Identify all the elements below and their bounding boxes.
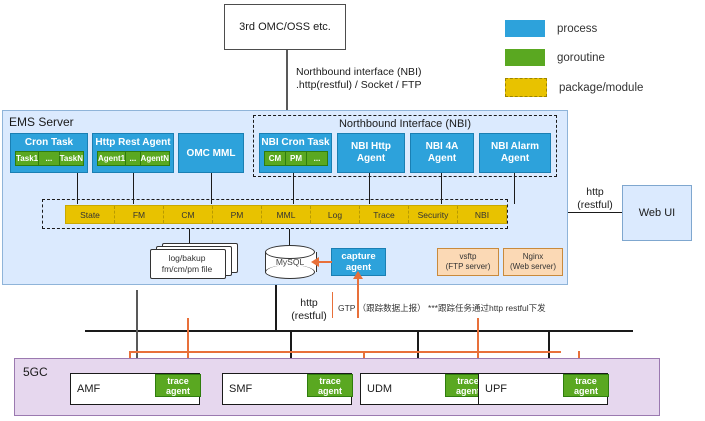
module-cm[interactable]: CM (164, 206, 213, 223)
legend-label-process: process (557, 23, 597, 35)
legend-item-package: package/module (505, 78, 643, 97)
fivegc-label: 5GC (23, 365, 48, 379)
ems-to-webui-connector (568, 212, 622, 213)
goroutine-cm: CM (264, 151, 286, 166)
capture-to-mysql-arrow-line (318, 261, 332, 263)
process-nbi-http-agent-label: NBI Http Agent (338, 141, 404, 165)
ems-5gc-link-line2: (restful) (285, 310, 333, 323)
trace-agent-smf-line2: agent (318, 386, 342, 396)
process-nbi-alarm-agent-label: NBI Alarm Agent (480, 141, 550, 165)
module-state[interactable]: State (66, 206, 115, 223)
module-mml[interactable]: MML (262, 206, 311, 223)
third-party-omc-oss-label: 3rd OMC/OSS etc. (239, 21, 331, 33)
ems-to-5gc-horizontal-bus (85, 330, 633, 332)
nf-upf-box[interactable]: UPF trace agent (478, 373, 608, 405)
nf-amf-box[interactable]: AMF trace agent (70, 373, 200, 405)
mysql-label: MySQL (265, 245, 315, 279)
omc-to-nbi-connector (286, 50, 288, 110)
goroutine-pm: PM (285, 151, 307, 166)
goroutine-row-cron-task: Task1 ... TaskN (15, 151, 83, 166)
process-nbi-4a-agent[interactable]: NBI 4A Agent (410, 133, 474, 173)
connector-nbi-alarm-to-modules (514, 173, 515, 204)
amf-upper-riser (136, 290, 138, 332)
process-omc-mml-label: OMC MML (179, 148, 243, 159)
module-trace[interactable]: Trace (360, 206, 409, 223)
process-cron-task[interactable]: Cron Task Task1 ... TaskN (10, 133, 88, 173)
ems-5gc-link-label: http (restful) (285, 297, 333, 323)
process-nbi-4a-agent-label: NBI 4A Agent (411, 141, 473, 165)
process-nbi-http-agent[interactable]: NBI Http Agent (337, 133, 405, 173)
trace-agent-amf-line1: trace (167, 376, 189, 386)
nf-smf-box[interactable]: SMF trace agent (222, 373, 352, 405)
gtp-orange-arrowhead-up (353, 271, 363, 279)
trace-agent-smf[interactable]: trace agent (307, 374, 353, 397)
legend-item-process: process (505, 20, 643, 37)
gtp-orange-horizontal-bus (129, 351, 561, 353)
gtp-note-separator (332, 292, 333, 318)
process-omc-mml[interactable]: OMC MML (178, 133, 244, 173)
trace-agent-upf[interactable]: trace agent (563, 374, 609, 397)
goroutine-nbi-ellipsis: ... (306, 151, 328, 166)
legend-label-goroutine: goroutine (557, 52, 605, 64)
web-ui-link-label: http (restful) (570, 186, 620, 212)
process-cron-task-label: Cron Task (11, 137, 87, 148)
process-http-rest-agent-label: Http Rest Agent (93, 137, 173, 148)
trace-agent-udm-line2: agent (456, 386, 480, 396)
nginx-line2: (Web server) (510, 262, 556, 272)
legend-swatch-goroutine (505, 49, 545, 66)
northbound-link-line2: .http(restful) / Socket / FTP (296, 79, 496, 92)
vsftp-server-box: vsftp (FTP server) (437, 248, 499, 276)
module-pm[interactable]: PM (213, 206, 262, 223)
legend-swatch-package (505, 78, 547, 97)
module-security[interactable]: Security (409, 206, 458, 223)
northbound-link-line1: Northbound interface (NBI) (296, 66, 496, 79)
goroutine-task1: Task1 (15, 151, 39, 166)
vsftp-line1: vsftp (460, 252, 477, 262)
trace-agent-amf-line2: agent (166, 386, 190, 396)
file-label-line2: fm/cm/pm file (150, 264, 224, 275)
process-nbi-cron-task[interactable]: NBI Cron Task CM PM ... (259, 133, 332, 173)
architecture-diagram: 3rd OMC/OSS etc. Northbound interface (N… (0, 0, 705, 421)
trace-agent-amf[interactable]: trace agent (155, 374, 201, 397)
web-ui-link-line1: http (570, 186, 620, 199)
nf-udm-label: UDM (367, 383, 392, 395)
file-label-line1: log/bakup (150, 253, 224, 264)
process-nbi-cron-task-label: NBI Cron Task (260, 137, 331, 148)
web-ui-label: Web UI (639, 207, 675, 219)
connector-modules-to-mysql (289, 229, 290, 246)
nginx-server-box: Nginx (Web server) (503, 248, 563, 276)
goroutine-row-http-rest-agent: Agent1 ... AgentN (97, 151, 169, 166)
gtp-orange-vertical-main (357, 276, 359, 318)
web-ui-box: Web UI (622, 185, 692, 241)
legend-label-package: package/module (559, 82, 643, 94)
nginx-line1: Nginx (523, 252, 543, 262)
trace-agent-upf-line1: trace (575, 376, 597, 386)
legend-swatch-process (505, 20, 545, 37)
gtp-note: GTP （跟踪数据上报） ***跟踪任务通过http restful下发 (338, 302, 638, 314)
nf-smf-label: SMF (229, 383, 252, 395)
vsftp-line2: (FTP server) (446, 262, 491, 272)
capture-agent-line1: capture (341, 251, 375, 262)
mysql-database: MySQL (265, 245, 315, 279)
nf-upf-label: UPF (485, 383, 507, 395)
trace-agent-smf-line1: trace (319, 376, 341, 386)
module-bar: State FM CM PM MML Log Trace Security NB… (65, 205, 507, 224)
module-log[interactable]: Log (311, 206, 360, 223)
goroutine-row-nbi-cron-task: CM PM ... (264, 151, 327, 166)
legend-item-goroutine: goroutine (505, 49, 643, 66)
goroutine-agent1: Agent1 (97, 151, 126, 166)
web-ui-link-line2: (restful) (570, 199, 620, 212)
third-party-omc-oss-box: 3rd OMC/OSS etc. (224, 4, 346, 50)
capture-to-mysql-arrowhead (311, 257, 319, 267)
goroutine-taskn: TaskN (59, 151, 84, 166)
package-module-group: State FM CM PM MML Log Trace Security NB… (42, 199, 508, 229)
trace-agent-upf-line2: agent (574, 386, 598, 396)
goroutine-agentn: AgentN (140, 151, 170, 166)
trace-agent-udm-line1: trace (457, 376, 479, 386)
goroutine-agent-ellipsis: ... (125, 151, 140, 166)
nbi-group-title: Northbound Interface (NBI) (254, 118, 556, 130)
northbound-link-label: Northbound interface (NBI) .http(restful… (296, 66, 496, 92)
nf-udm-box[interactable]: UDM trace agent (360, 373, 490, 405)
log-backup-files: log/bakup fm/cm/pm file (150, 243, 238, 277)
ems-5gc-link-line1: http (285, 297, 333, 310)
legend: process goroutine package/module (505, 20, 643, 109)
ems-server-label: EMS Server (9, 115, 74, 129)
module-fm[interactable]: FM (115, 206, 164, 223)
process-http-rest-agent[interactable]: Http Rest Agent Agent1 ... AgentN (92, 133, 174, 173)
module-nbi[interactable]: NBI (458, 206, 506, 223)
process-nbi-alarm-agent[interactable]: NBI Alarm Agent (479, 133, 551, 173)
ems-to-5gc-vertical (275, 285, 277, 330)
goroutine-task-ellipsis: ... (38, 151, 59, 166)
nf-amf-label: AMF (77, 383, 100, 395)
